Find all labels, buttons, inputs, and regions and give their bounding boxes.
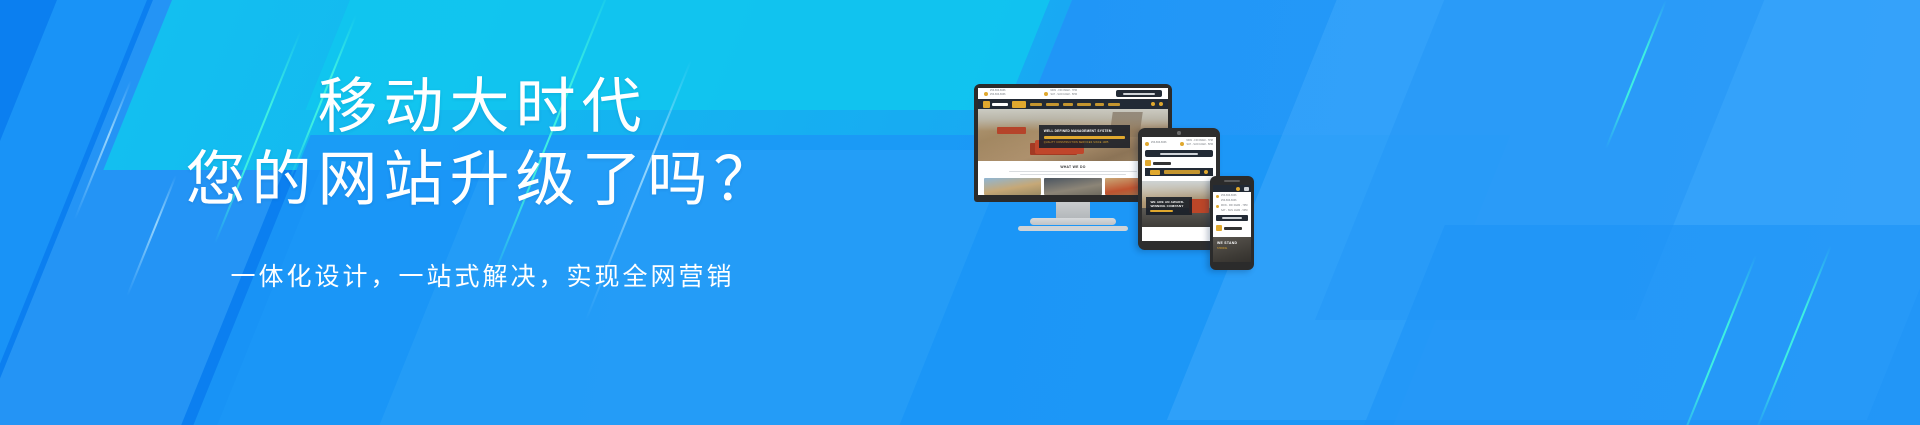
- phone-hero-subtitle: STRONG: [1217, 247, 1247, 250]
- phone-row-2: 256-666-6666: [1216, 200, 1248, 203]
- nav-item-services[interactable]: [1046, 103, 1059, 106]
- tablet-mockup: 256-666-6666 MON - FRI 09AM - 7PM SAT - …: [1138, 128, 1220, 250]
- hero-accent-bar: [1044, 136, 1125, 139]
- section-title: WHAT WE DO: [984, 165, 1162, 169]
- phone-site-logo[interactable]: [1216, 224, 1248, 234]
- nav-item-home[interactable]: [1012, 101, 1026, 108]
- tablet-hours-1: MON - FRI 09AM - 7PM: [1186, 140, 1213, 143]
- search-icon[interactable]: [1151, 102, 1155, 106]
- nav-item-pages[interactable]: [1077, 103, 1091, 106]
- clock-icon: [1216, 205, 1219, 208]
- tablet-nav-home[interactable]: [1150, 170, 1160, 175]
- tablet-camera-icon: [1177, 131, 1181, 135]
- tablet-hero-title: WE ARE AN AWARD-WINNING COMPANY: [1150, 200, 1188, 208]
- topbar-hours-block: MON - FRI 09AM - 7PM SAT - SUN 10AM - 5P…: [1044, 90, 1077, 97]
- tablet-request-quote-button[interactable]: [1145, 150, 1213, 157]
- tablet-hours-lines: MON - FRI 09AM - 7PM SAT - SUN 10AM - 5P…: [1186, 140, 1213, 147]
- topbar-phone-1: 256-666-6666: [990, 90, 1006, 93]
- hero-truck-graphic: [997, 127, 1026, 134]
- accent-streak-8: [1676, 255, 1757, 425]
- phone-hours-1: MON - FRI 09AM - 7PM: [1221, 205, 1248, 208]
- request-quote-button[interactable]: [1116, 90, 1162, 97]
- nav-item-extra[interactable]: [1108, 103, 1120, 106]
- phone-hero-title: WE STAND: [1217, 241, 1247, 245]
- phone-icon: [984, 92, 988, 96]
- tablet-hours-block: MON - FRI 09AM - 7PM SAT - SUN 10AM - 5P…: [1180, 140, 1213, 147]
- topbar-hours-lines: MON - FRI 09AM - 7PM SAT - SUN 10AM - 5P…: [1050, 90, 1077, 97]
- topbar-phone-lines: 256-666-6666 256-666-6666: [990, 90, 1006, 97]
- accent-streak-9: [1755, 245, 1832, 425]
- section-text-line-2: [1020, 174, 1127, 175]
- search-icon[interactable]: [1204, 170, 1208, 174]
- phone-speaker-icon: [1224, 180, 1240, 183]
- banner-copy: 移动大时代 您的网站升级了吗？ 一体化设计，一站式解决，实现全网营销: [0, 72, 965, 294]
- phone-contact-block: 256-666-6666 256-666-6666 MON - FRI 09AM…: [1213, 192, 1251, 237]
- phone-number-2: 256-666-6666: [1221, 200, 1237, 203]
- hero-title: WELL DEFINED MANAGEMENT SYSTEM: [1044, 129, 1125, 133]
- phone-icon: [1216, 195, 1219, 198]
- phone-site-nav: [1213, 185, 1251, 192]
- phone-icon: [1145, 142, 1149, 146]
- tablet-hero-accent-bar: [1150, 210, 1173, 212]
- cart-icon[interactable]: [1159, 102, 1163, 106]
- hero-caption-card: WELL DEFINED MANAGEMENT SYSTEM QUALITY C…: [1039, 125, 1130, 148]
- nav-item-projects[interactable]: [1063, 103, 1073, 106]
- phone-screen: 256-666-6666 256-666-6666 MON - FRI 09AM…: [1213, 185, 1251, 262]
- nav-item-about[interactable]: [1030, 103, 1042, 106]
- phone-row-3: MON - FRI 09AM - 7PM: [1216, 205, 1248, 208]
- service-thumbnail-1[interactable]: [984, 178, 1041, 195]
- tablet-site-logo[interactable]: [1142, 160, 1216, 168]
- tablet-phone-block: 256-666-6666: [1145, 142, 1167, 146]
- banner-subline: 一体化设计，一站式解决，实现全网营销: [0, 260, 965, 294]
- tablet-topbar: 256-666-6666 MON - FRI 09AM - 7PM SAT - …: [1142, 137, 1216, 150]
- phone-hours-2: SAT - SUN 10AM - 5PM: [1221, 210, 1248, 213]
- headline-line-1: 移动大时代: [0, 72, 965, 142]
- section-text-line-1: [1009, 171, 1137, 172]
- monitor-foot: [1018, 226, 1128, 231]
- logo-mark-icon: [983, 101, 990, 108]
- logo-mark-icon: [1216, 225, 1222, 231]
- phone-row-4: SAT - SUN 10AM - 5PM: [1216, 210, 1248, 213]
- phone-row-1: 256-666-6666: [1216, 195, 1248, 198]
- clock-icon: [1180, 142, 1184, 146]
- logo-wordmark: [1153, 162, 1171, 165]
- tablet-phone: 256-666-6666: [1151, 142, 1167, 145]
- topbar-hours-1: MON - FRI 09AM - 7PM: [1050, 90, 1077, 93]
- logo-mark-icon: [1145, 160, 1151, 166]
- device-mockup-cluster: 256-666-6666 256-666-6666 MON - FRI 09AM…: [960, 78, 1290, 278]
- tablet-site-nav: [1145, 168, 1213, 176]
- logo-wordmark: [1224, 227, 1242, 230]
- tablet-phone-lines: 256-666-6666: [1151, 142, 1167, 145]
- tablet-nav-rest[interactable]: [1164, 170, 1200, 174]
- headline-line-2: 您的网站升级了吗？: [0, 142, 965, 218]
- nav-item-contact[interactable]: [1095, 103, 1104, 106]
- tablet-hours-2: SAT - SUN 10AM - 5PM: [1186, 144, 1213, 147]
- topbar-hours-2: SAT - SUN 10AM - 5PM: [1050, 94, 1077, 97]
- search-icon[interactable]: [1236, 187, 1240, 191]
- bg-shape-right-lower: [1275, 225, 1920, 425]
- topbar-phone-2: 256-666-6666: [990, 94, 1006, 97]
- accent-streak-7: [1605, 0, 1667, 149]
- service-thumbnails: [984, 178, 1162, 195]
- site-nav: [978, 99, 1168, 109]
- tablet-screen: 256-666-6666 MON - FRI 09AM - 7PM SAT - …: [1142, 137, 1216, 241]
- tablet-hero: WE ARE AN AWARD-WINNING COMPANY: [1142, 181, 1216, 227]
- topbar-phone-block: 256-666-6666 256-666-6666: [984, 90, 1006, 97]
- bg-shape-right-dark: [1315, 0, 1845, 320]
- site-logo[interactable]: [983, 101, 1008, 108]
- logo-wordmark: [992, 103, 1008, 106]
- monitor-neck: [1056, 202, 1090, 218]
- monitor-base: [1030, 218, 1116, 225]
- hero-subtitle: QUALITY CONSTRUCTION SERVICES SINCE 1985: [1044, 141, 1125, 144]
- smartphone-mockup: 256-666-6666 256-666-6666 MON - FRI 09AM…: [1210, 176, 1254, 270]
- tablet-hero-card: WE ARE AN AWARD-WINNING COMPANY: [1146, 197, 1192, 215]
- menu-icon[interactable]: [1244, 187, 1249, 191]
- service-thumbnail-2[interactable]: [1044, 178, 1101, 195]
- site-topbar: 256-666-6666 256-666-6666 MON - FRI 09AM…: [978, 88, 1168, 99]
- promo-banner: 移动大时代 您的网站升级了吗？ 一体化设计，一站式解决，实现全网营销 256-6…: [0, 0, 1920, 425]
- clock-icon: [1044, 92, 1048, 96]
- phone-number-1: 256-666-6666: [1221, 195, 1237, 198]
- phone-request-quote-button[interactable]: [1216, 215, 1248, 221]
- phone-hero: WE STAND STRONG: [1213, 237, 1251, 262]
